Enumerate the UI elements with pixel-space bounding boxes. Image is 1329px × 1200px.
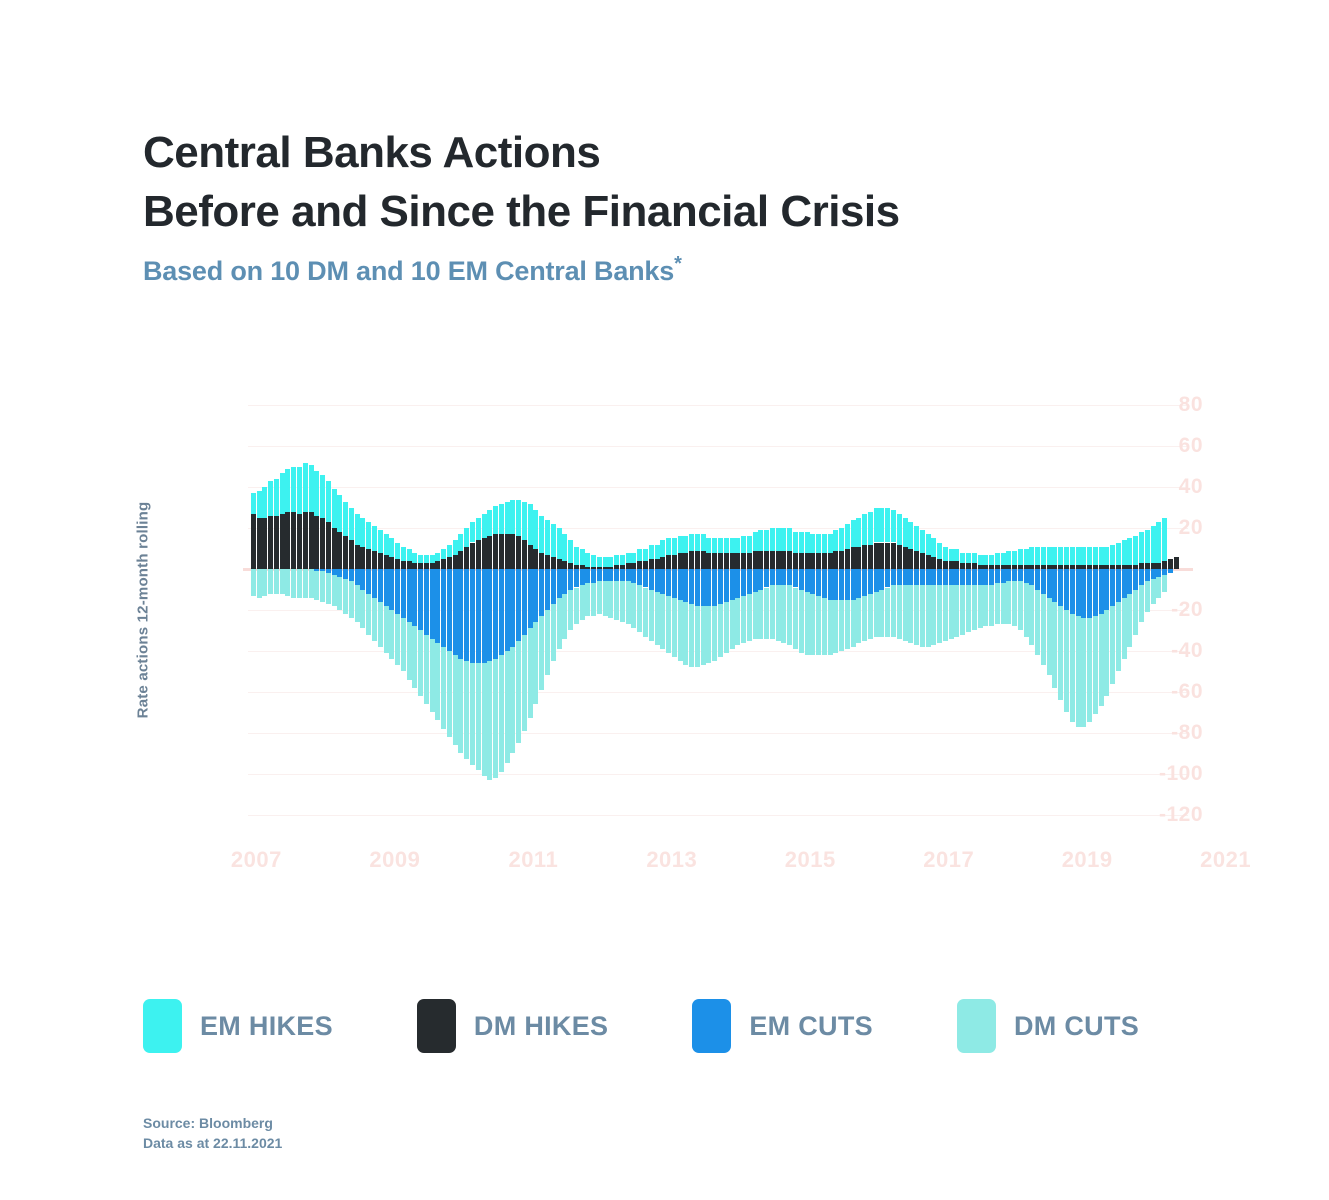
bar-segment [332,528,337,569]
bar-group [926,385,931,835]
bar-segment [764,530,769,550]
bar-segment [816,596,821,655]
bar-segment [712,569,717,606]
bar-group [349,385,354,835]
bar-segment [828,569,833,600]
bar-segment [787,569,792,585]
bar-segment [533,549,538,569]
bar-segment [470,663,475,765]
bar-segment [476,540,481,569]
bar-segment [1064,610,1069,712]
bar-segment [631,569,636,583]
bar-group [1041,385,1046,835]
bar-segment [557,569,562,598]
bar-segment [372,526,377,551]
bar-segment [551,569,556,604]
bar-segment [949,569,954,585]
bar-segment [701,606,706,665]
bar-segment [435,553,440,561]
bar-segment [545,555,550,569]
bar-group [268,385,273,835]
bar-segment [920,585,925,646]
bar-segment [770,569,775,585]
bar-group [758,385,763,835]
bar-segment [366,569,371,594]
bar-segment [366,594,371,635]
bar-segment [851,520,856,547]
bar-segment [770,528,775,551]
bar-group [1081,385,1086,835]
bar-segment [960,585,965,634]
legend-item[interactable]: DM CUTS [957,999,1139,1053]
bar-segment [937,569,942,585]
bar-segment [879,590,884,637]
bar-segment [1162,561,1167,569]
bar-segment [643,569,648,587]
bar-segment [701,551,706,569]
bar-segment [908,522,913,549]
bar-segment [689,534,694,550]
bar-group [793,385,798,835]
bar-segment [926,569,931,585]
bar-segment [545,569,550,610]
bar-segment [805,553,810,569]
bar-segment [730,553,735,569]
bar-segment [805,532,810,552]
bar-segment [660,557,665,569]
bar-segment [655,559,660,569]
bar-segment [1116,569,1121,602]
bar-segment [522,569,527,634]
bar-segment [914,569,919,585]
bar-segment [914,551,919,569]
bar-segment [643,549,648,561]
bar-segment [1029,569,1034,585]
bar-segment [851,569,856,600]
bar-segment [822,598,827,655]
bar-segment [545,520,550,555]
bar-segment [297,514,302,569]
bar-segment [989,585,994,626]
bar-segment [280,514,285,569]
bar-group [937,385,942,835]
bar-group [649,385,654,835]
bar-segment [758,551,763,569]
bar-segment [378,602,383,647]
bar-group [1029,385,1034,835]
bar-segment [326,573,331,604]
bar-segment [1024,583,1029,636]
bar-segment [257,491,262,518]
bar-segment [908,585,913,642]
bar-segment [781,528,786,551]
bar-segment [879,569,884,589]
bar-segment [551,604,556,661]
bar-group [747,385,752,835]
bar-segment [937,585,942,642]
bar-group [678,385,683,835]
bar-group [401,385,406,835]
bar-segment [937,543,942,559]
bar-group [343,385,348,835]
bar-segment [810,594,815,655]
bar-segment [660,594,665,649]
bar-segment [482,569,487,663]
bar-segment [758,530,763,550]
bar-segment [401,561,406,569]
bar-segment [291,569,296,598]
legend-label: DM HIKES [474,1011,608,1042]
bar-segment [326,522,331,569]
bar-group [920,385,925,835]
bar-segment [712,538,717,552]
bar-group [470,385,475,835]
bar-segment [1133,569,1138,589]
bar-segment [839,569,844,600]
bar-segment [776,528,781,551]
bar-segment [995,569,1000,583]
bar-segment [453,655,458,745]
bar-segment [1127,538,1132,565]
bar-segment [874,543,879,570]
legend-swatch [692,999,731,1053]
bar-segment [430,555,435,563]
bar-segment [949,549,954,561]
bar-segment [280,473,285,514]
bar-segment [897,514,902,545]
bar-group [366,385,371,835]
bar-segment [706,606,711,663]
bar-group [799,385,804,835]
bar-segment [862,596,867,641]
bar-group [510,385,515,835]
bar-group [355,385,360,835]
bar-segment [822,553,827,569]
bar-segment [851,600,856,647]
bar-segment [412,569,417,626]
bar-segment [493,569,498,659]
bar-group [1024,385,1029,835]
bar-segment [510,569,515,647]
bar-segment [539,569,544,616]
y-tick-label: -40 [1111,639,1203,663]
bar-segment [510,500,515,535]
bar-segment [285,469,290,512]
bar-segment [407,561,412,569]
bar-segment [1012,551,1017,565]
bar-group [660,385,665,835]
bar-group [695,385,700,835]
bar-segment [320,571,325,602]
legend-item[interactable]: EM CUTS [692,999,873,1053]
bar-group [1076,385,1081,835]
legend-label: EM CUTS [749,1011,873,1042]
bar-segment [1151,569,1156,579]
bar-group [706,385,711,835]
bar-group [891,385,896,835]
bar-segment [453,569,458,655]
bar-segment [649,569,654,589]
bar-segment [753,592,758,639]
bar-segment [845,569,850,600]
x-tick-label: 2021 [1200,847,1251,873]
bar-segment [1029,585,1034,644]
bar-segment [585,583,590,616]
bar-segment [1093,547,1098,565]
bar-group [718,385,723,835]
bar-segment [856,598,861,643]
bar-segment [637,561,642,569]
bar-segment [747,553,752,569]
bar-segment [972,585,977,630]
bar-segment [672,538,677,554]
bar-segment [493,659,498,778]
bar-segment [631,583,636,628]
bar-segment [620,555,625,565]
bar-group [360,385,365,835]
bar-group [516,385,521,835]
bar-group [597,385,602,835]
bar-segment [407,569,412,622]
bar-segment [793,553,798,569]
bar-segment [268,481,273,516]
bar-segment [903,547,908,570]
bar-segment [1047,547,1052,565]
legend-item[interactable]: DM HIKES [417,999,608,1053]
bar-group [1093,385,1098,835]
bar-segment [695,551,700,569]
bar-segment [1104,547,1109,565]
bar-group [1099,385,1104,835]
bar-segment [1058,569,1063,606]
bar-segment [418,569,423,630]
bar-group [683,385,688,835]
bar-group [828,385,833,835]
bar-segment [257,569,262,598]
bar-segment [372,551,377,569]
bar-group [885,385,890,835]
bar-segment [712,553,717,569]
bar-segment [314,571,319,600]
bar-segment [528,545,533,570]
bar-segment [735,538,740,552]
x-tick-label: 2011 [508,847,558,873]
bar-group [954,385,959,835]
bar-segment [499,534,504,569]
bar-segment [568,590,573,631]
bar-group [712,385,717,835]
bar-group [487,385,492,835]
bar-segment [522,635,527,731]
bar-group [914,385,919,835]
bar-group [701,385,706,835]
bar-segment [482,514,487,539]
bar-group [631,385,636,835]
bar-segment [366,549,371,569]
x-tick-label: 2017 [923,847,974,873]
bar-group [735,385,740,835]
bar-segment [1081,618,1086,726]
bar-segment [862,514,867,545]
bar-segment [724,602,729,653]
bar-segment [597,569,602,581]
bar-group [337,385,342,835]
bar-segment [355,585,360,622]
legend-item[interactable]: EM HIKES [143,999,333,1053]
bar-segment [591,555,596,567]
bar-segment [1018,549,1023,565]
bar-segment [447,557,452,569]
bar-segment [793,569,798,587]
bar-segment [407,549,412,561]
bar-segment [931,569,936,585]
bar-segment [574,588,579,625]
legend-swatch [957,999,996,1053]
bar-segment [931,585,936,644]
bar-segment [799,569,804,589]
bar-segment [1087,618,1092,722]
bar-segment [730,538,735,552]
bar-group [378,385,383,835]
bar-segment [580,569,585,585]
bar-segment [862,545,867,570]
bar-segment [908,569,913,585]
bar-segment [724,553,729,569]
bar-group [389,385,394,835]
bar-segment [891,543,896,570]
bar-segment [262,518,267,569]
bar-group [332,385,337,835]
bar-segment [741,536,746,552]
bar-segment [326,481,331,522]
bar-group [372,385,377,835]
bar-segment [251,569,256,596]
bar-segment [516,500,521,537]
bar-segment [378,569,383,602]
bar-segment [343,536,348,569]
bar-segment [954,569,959,585]
bar-segment [1127,569,1132,594]
bar-segment [251,493,256,513]
bar-segment [389,557,394,569]
bar-segment [816,569,821,596]
bar-segment [891,569,896,585]
bar-segment [274,516,279,569]
bar-segment [660,540,665,556]
bar-group [1064,385,1069,835]
bar-group [262,385,267,835]
bar-segment [280,569,285,594]
bar-segment [297,569,302,598]
bar-segment [799,590,804,653]
bar-segment [372,598,377,641]
bar-segment [407,622,412,679]
bar-segment [412,553,417,563]
bar-segment [897,569,902,585]
bar-segment [706,553,711,569]
bar-segment [1018,569,1023,581]
bar-segment [412,626,417,687]
bar-segment [285,569,290,596]
bar-segment [499,655,504,772]
bar-group [741,385,746,835]
bar-segment [257,518,262,569]
bar-segment [591,583,596,616]
bar-segment [303,463,308,512]
bar-segment [1024,549,1029,565]
bar-segment [678,569,683,600]
bar-segment [701,569,706,606]
bar-group [608,385,613,835]
bar-segment [320,475,325,518]
bar-segment [954,585,959,636]
bar-group [672,385,677,835]
bar-segment [360,547,365,570]
bar-segment [810,553,815,569]
bar-segment [562,594,567,639]
bar-segment [753,532,758,550]
bar-segment [885,588,890,637]
bar-segment [372,569,377,598]
bar-segment [972,553,977,563]
bar-segment [384,606,389,653]
bar-group [851,385,856,835]
bar-segment [868,545,873,570]
bar-segment [978,585,983,628]
bar-segment [343,502,348,537]
bar-segment [441,559,446,569]
bar-segment [978,555,983,565]
bar-segment [1058,606,1063,700]
bar-segment [683,602,688,665]
bar-segment [349,581,354,618]
bar-segment [1110,545,1115,565]
bar-segment [903,518,908,547]
bar-group [724,385,729,835]
bar-segment [724,569,729,602]
bar-segment [885,508,890,543]
bar-segment [309,569,314,598]
bar-group [424,385,429,835]
bar-segment [591,569,596,583]
bar-segment [787,551,792,569]
bar-group [499,385,504,835]
bar-segment [557,559,562,569]
bar-segment [291,467,296,512]
bar-group [943,385,948,835]
bar-segment [291,512,296,569]
bar-group [816,385,821,835]
bar-segment [1035,590,1040,655]
bar-segment [943,561,948,569]
bar-segment [1064,547,1069,565]
bar-segment [384,555,389,569]
bar-segment [274,569,279,594]
bar-segment [718,553,723,569]
bar-segment [730,569,735,600]
bar-segment [464,661,469,759]
bar-group [493,385,498,835]
bar-group [764,385,769,835]
bar-segment [349,569,354,581]
bar-group [291,385,296,835]
bar-segment [1041,594,1046,666]
bar-segment [781,585,786,642]
bar-segment [487,661,492,780]
bar-segment [666,569,671,596]
bar-segment [314,516,319,569]
bar-group [787,385,792,835]
